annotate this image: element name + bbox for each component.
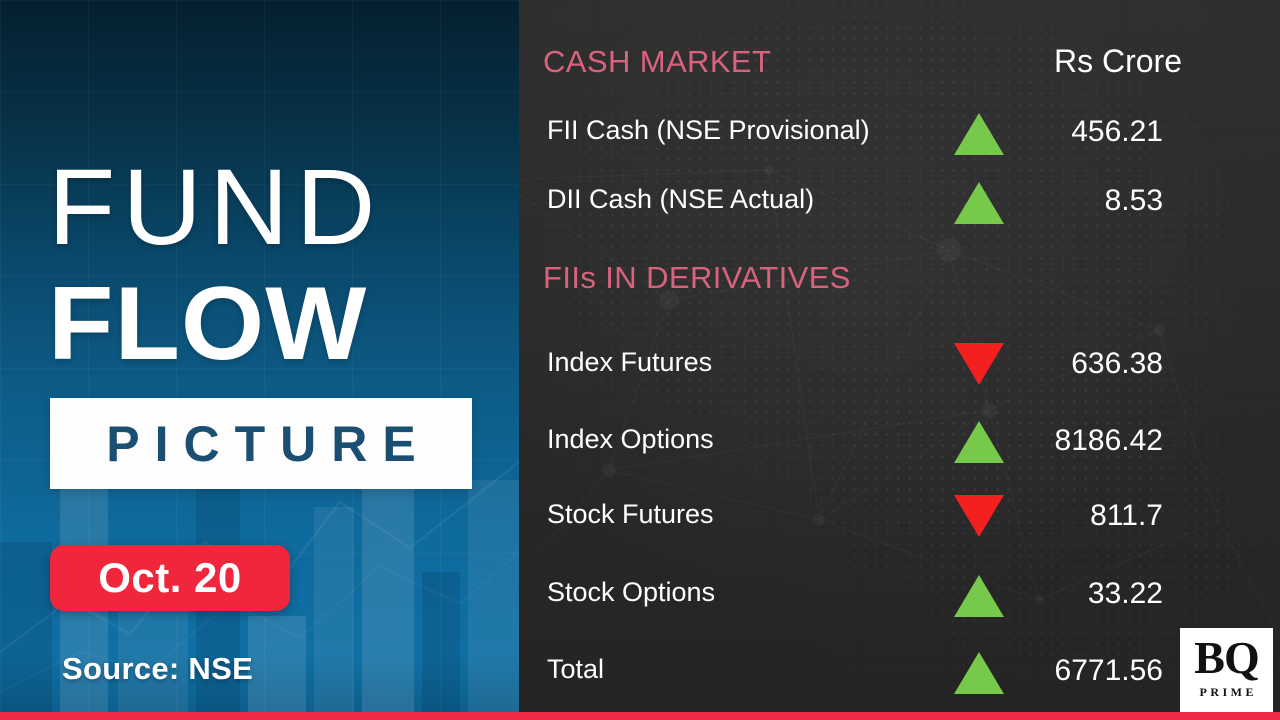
bq-prime-logo: BQ PRIME: [1180, 628, 1273, 712]
row-value: 456.21: [1071, 117, 1163, 147]
section-heading-cash-market: CASH MARKET: [543, 46, 771, 77]
trend-up-icon: [954, 113, 1004, 155]
row-value: 33.22: [1088, 579, 1163, 609]
brand-title-line-1: FUND: [48, 153, 383, 261]
brand-title-line-2: FLOW: [48, 272, 367, 376]
row-value: 6771.56: [1055, 656, 1163, 686]
date-badge-label: Oct. 20: [98, 557, 242, 599]
row-label: DII Cash (NSE Actual): [547, 186, 814, 213]
row-label: Index Futures: [547, 349, 712, 376]
date-badge: Oct. 20: [50, 545, 290, 611]
row-label: Stock Options: [547, 579, 715, 606]
trend-down-icon: [954, 495, 1004, 537]
trend-down-icon: [954, 343, 1004, 385]
infographic-canvas: FUND FLOW PICTURE Oct. 20 Source: NSE: [0, 0, 1280, 720]
unit-header: Rs Crore: [1054, 45, 1182, 77]
trend-up-icon: [954, 652, 1004, 694]
brand-title-line-3-box: PICTURE: [50, 398, 472, 489]
data-panel: CASH MARKET Rs Crore FII Cash (NSE Provi…: [519, 0, 1280, 712]
trend-up-icon: [954, 182, 1004, 224]
section-heading-fiis-in-derivatives: FIIs IN DERIVATIVES: [543, 262, 851, 293]
row-label: Total: [547, 656, 604, 683]
row-value: 636.38: [1071, 349, 1163, 379]
bottom-accent-bar: [0, 712, 1280, 720]
row-value: 8186.42: [1055, 426, 1163, 456]
row-label: Stock Futures: [547, 501, 714, 528]
bq-prime-logo-mark: BQ: [1194, 635, 1258, 681]
brand-panel: FUND FLOW PICTURE Oct. 20 Source: NSE: [0, 0, 519, 712]
trend-up-icon: [954, 575, 1004, 617]
bq-prime-logo-wordmark: PRIME: [1196, 686, 1257, 698]
row-label: Index Options: [547, 426, 714, 453]
trend-up-icon: [954, 421, 1004, 463]
source-attribution: Source: NSE: [62, 652, 253, 686]
row-value: 8.53: [1105, 186, 1163, 216]
row-value: 811.7: [1090, 501, 1163, 531]
brand-title-line-3: PICTURE: [91, 419, 430, 469]
row-label: FII Cash (NSE Provisional): [547, 117, 870, 144]
